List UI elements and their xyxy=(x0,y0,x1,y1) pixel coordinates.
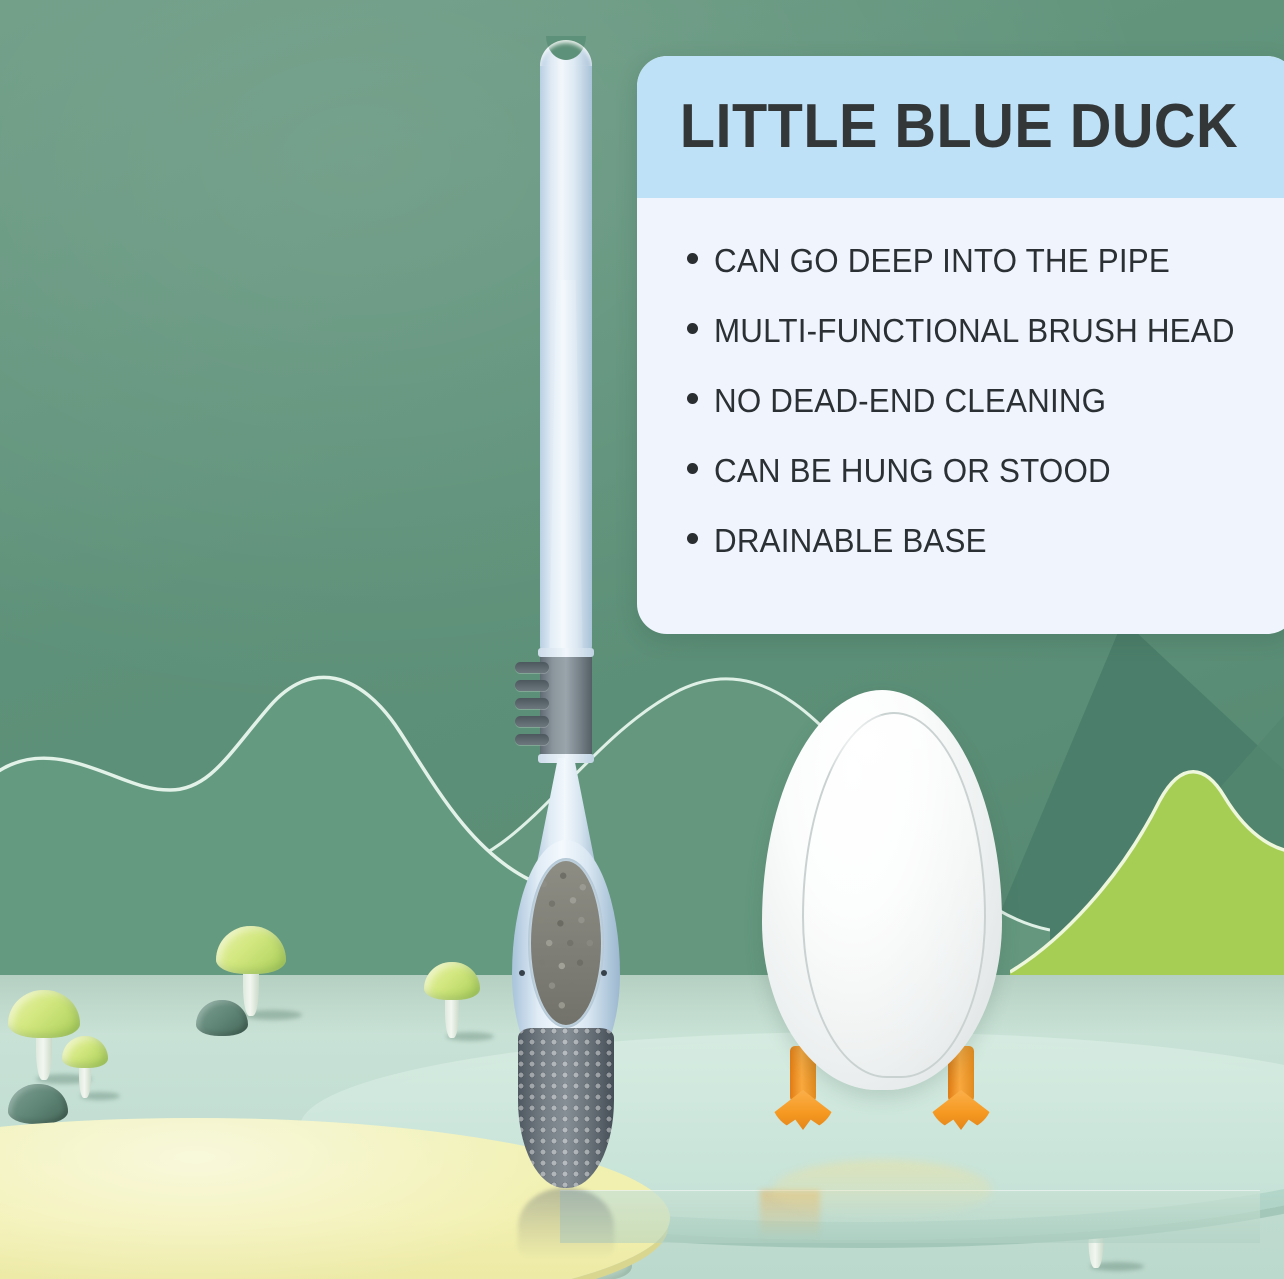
feature-label: CAN GO DEEP INTO THE PIPE xyxy=(714,242,1170,280)
duck-reflection xyxy=(772,1160,992,1220)
brush-grip-slot xyxy=(515,698,549,709)
brush-grip-slot xyxy=(515,734,549,745)
brush-grip-band-top xyxy=(538,648,594,657)
floor-shadow-gradient xyxy=(0,975,1284,1035)
bullet-icon xyxy=(687,393,698,404)
feature-label: CAN BE HUNG OR STOOD xyxy=(714,452,1111,490)
page-title: LITTLE BLUE DUCK xyxy=(637,96,1238,158)
bullet-icon xyxy=(687,253,698,264)
brush-grip-slot xyxy=(515,662,549,673)
brush-bristles xyxy=(531,861,601,1025)
card-header-band: LITTLE BLUE DUCK xyxy=(637,56,1284,198)
toilet-brush xyxy=(506,40,626,1180)
product-info-card: LITTLE BLUE DUCK CAN GO DEEP INTO THE PI… xyxy=(637,56,1284,634)
mushroom xyxy=(424,962,480,1040)
mushroom xyxy=(62,1036,108,1098)
brush-grip-slot xyxy=(515,680,549,691)
duck-body-highlight xyxy=(824,714,916,792)
brush-head-vent-left xyxy=(519,970,525,976)
product-banner-scene: LITTLE BLUE DUCK CAN GO DEEP INTO THE PI… xyxy=(0,0,1284,1279)
bullet-icon xyxy=(687,323,698,334)
duck-body-shell xyxy=(762,690,1002,1090)
list-item: MULTI-FUNCTIONAL BRUSH HEAD xyxy=(667,312,1284,350)
duck-foot-left xyxy=(771,1090,835,1130)
feature-label: DRAINABLE BASE xyxy=(714,522,987,560)
brush-grip-slot xyxy=(515,716,549,727)
list-item: DRAINABLE BASE xyxy=(667,522,1284,560)
brush-silicone-nubs xyxy=(518,1028,614,1188)
feature-list: CAN GO DEEP INTO THE PIPE MULTI-FUNCTION… xyxy=(637,198,1284,560)
bullet-icon xyxy=(687,463,698,474)
feature-label: NO DEAD-END CLEANING xyxy=(714,382,1106,420)
brush-reflection xyxy=(518,1188,614,1258)
feature-label: MULTI-FUNCTIONAL BRUSH HEAD xyxy=(714,312,1235,350)
bullet-icon xyxy=(687,533,698,544)
duck-holder xyxy=(752,690,1012,1170)
brush-head-vent-right xyxy=(601,970,607,976)
list-item: NO DEAD-END CLEANING xyxy=(667,382,1284,420)
list-item: CAN BE HUNG OR STOOD xyxy=(667,452,1284,490)
list-item: CAN GO DEEP INTO THE PIPE xyxy=(667,242,1284,280)
duck-foot-right xyxy=(929,1090,993,1130)
